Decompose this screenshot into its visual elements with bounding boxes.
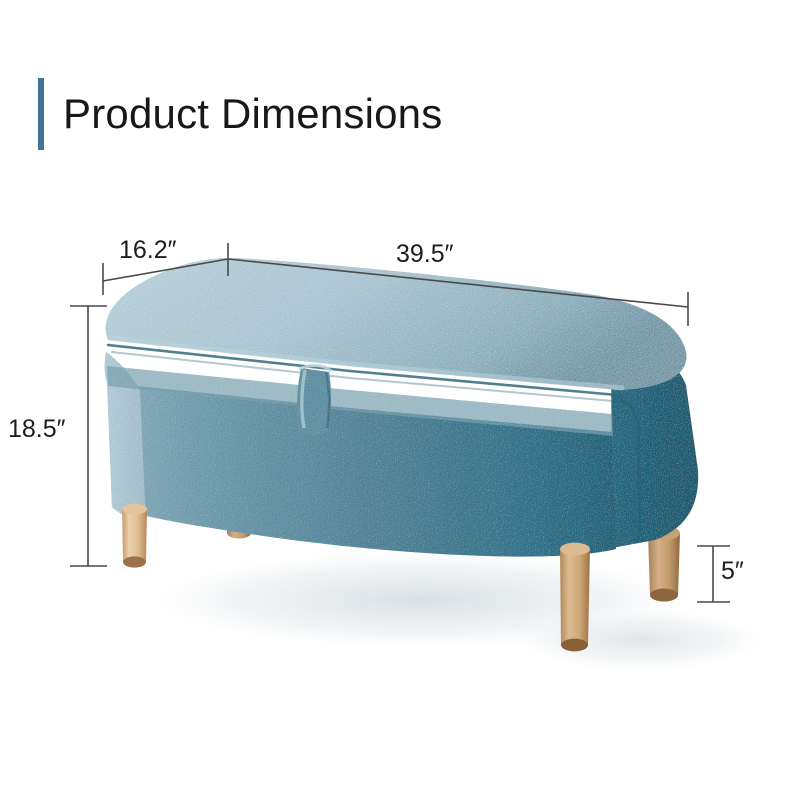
width-dimension-line: [228, 259, 688, 326]
height-dimension-label: 18.5″: [8, 415, 66, 444]
dimension-annotations: [0, 0, 800, 800]
product-dimensions-diagram: Product Dimensions: [0, 0, 800, 800]
height-dimension-line: [70, 306, 107, 566]
depth-dimension-label: 16.2″: [119, 236, 177, 265]
leg-height-dimension-label: 5″: [721, 557, 744, 586]
width-dimension-label: 39.5″: [396, 240, 454, 269]
